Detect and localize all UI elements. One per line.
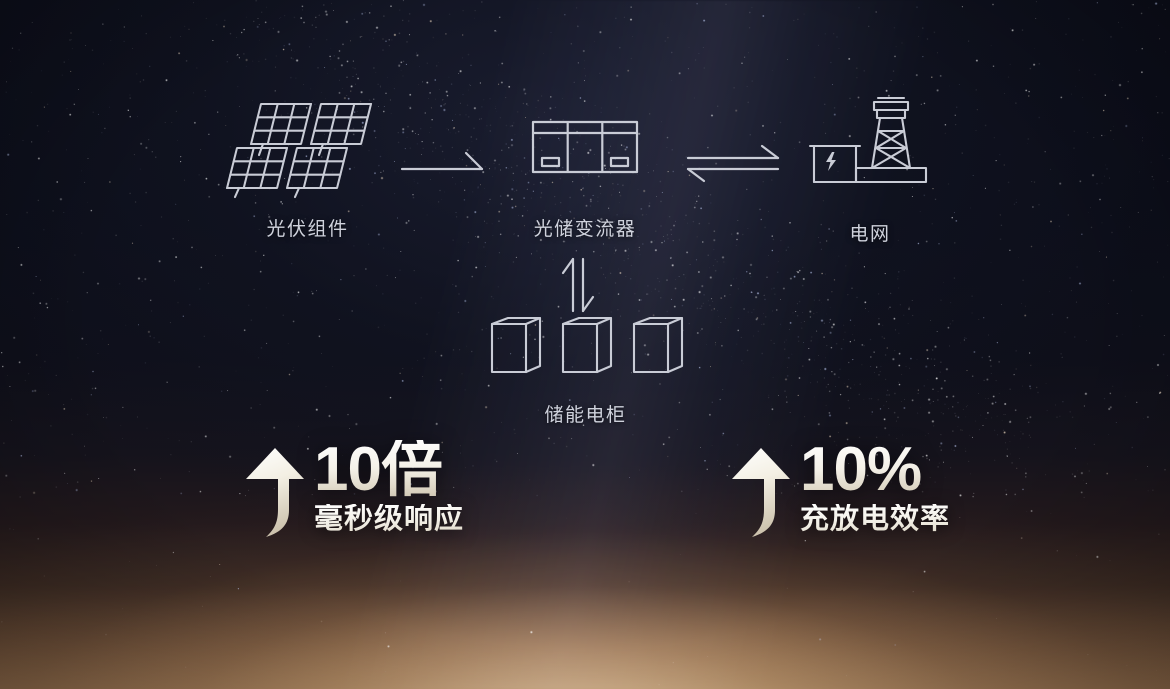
stat-response-text: 10倍 毫秒级响应 xyxy=(314,440,464,535)
stat-efficiency: 10% 充放电效率 xyxy=(730,440,950,538)
diagram-node-battery: 储能电柜 xyxy=(478,310,693,427)
arrow-up-curved-icon xyxy=(244,446,306,538)
hero-scene: 光伏组件 光储变流器 xyxy=(0,0,1170,689)
diagram-node-battery-label: 储能电柜 xyxy=(478,400,693,427)
stat-efficiency-value: 10% xyxy=(800,440,950,500)
arrow-bidirectional-vertical-icon xyxy=(558,255,598,315)
stat-response: 10倍 毫秒级响应 xyxy=(244,440,464,538)
stat-response-caption: 毫秒级响应 xyxy=(314,504,464,536)
energy-flow-diagram: 光伏组件 光储变流器 xyxy=(0,0,1170,689)
battery-cabinet-icon xyxy=(478,310,693,380)
pv-storage-converter-icon xyxy=(500,116,670,186)
diagram-node-pv-label: 光伏组件 xyxy=(225,214,390,241)
diagram-node-grid-label: 电网 xyxy=(790,219,950,246)
solar-panel-array-icon xyxy=(225,100,390,200)
arrow-bidirectional-icon xyxy=(684,143,784,183)
stats-row: 10倍 毫秒级响应 10% 充放电效率 xyxy=(0,440,1170,560)
diagram-node-inverter: 光储变流器 xyxy=(500,100,670,241)
lightning-bolt-icon xyxy=(826,152,836,171)
power-grid-tower-icon xyxy=(790,92,950,197)
arrow-right-icon xyxy=(400,148,486,178)
diagram-node-pv: 光伏组件 xyxy=(225,100,390,241)
stat-efficiency-text: 10% 充放电效率 xyxy=(800,440,950,535)
diagram-node-grid: 电网 xyxy=(790,92,950,246)
stat-efficiency-caption: 充放电效率 xyxy=(800,504,950,536)
diagram-node-inverter-label: 光储变流器 xyxy=(500,214,670,241)
stat-response-value: 10倍 xyxy=(314,440,464,500)
arrow-up-curved-icon xyxy=(730,446,792,538)
